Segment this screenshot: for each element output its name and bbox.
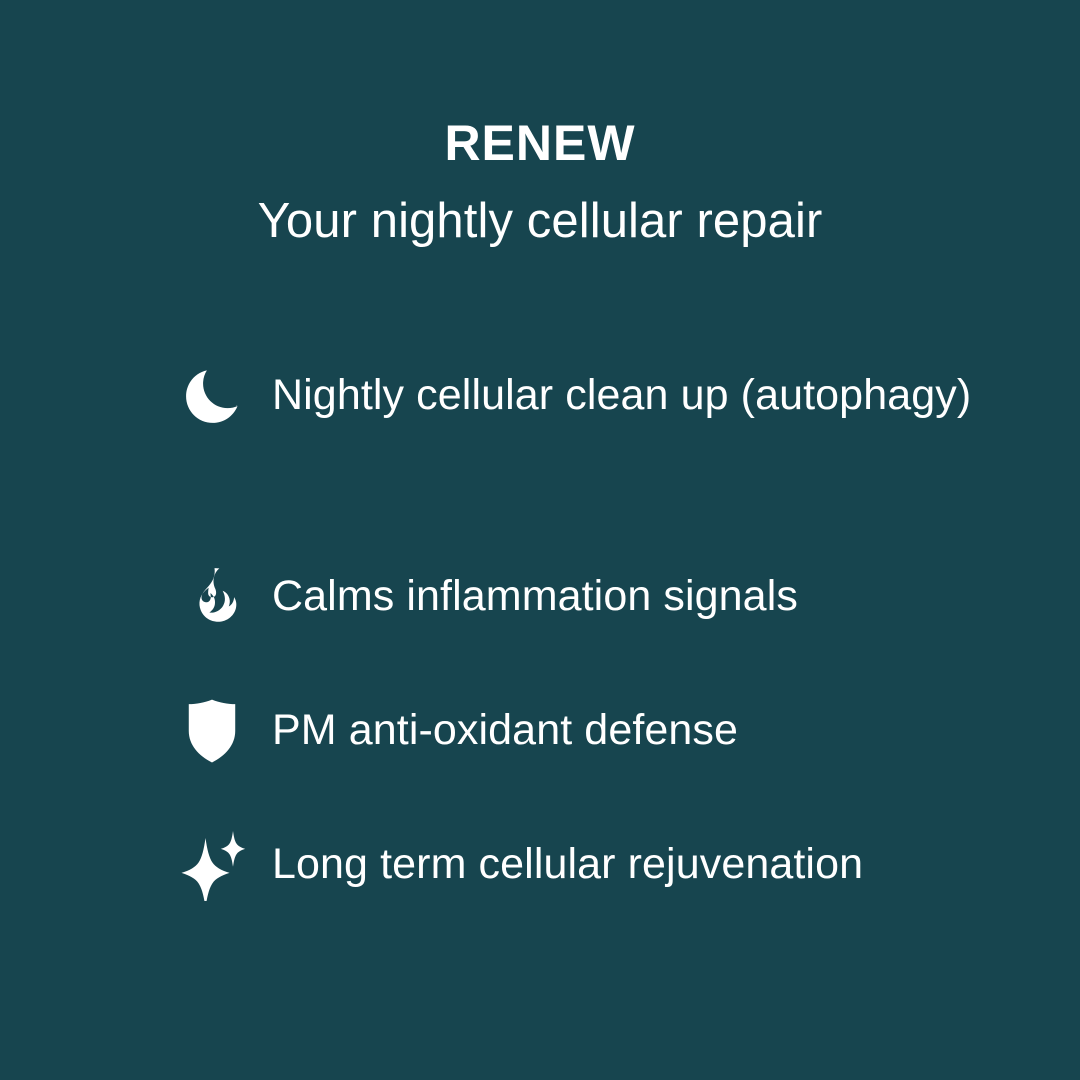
list-item-label: Long term cellular rejuvenation [246, 831, 978, 898]
moon-icon [178, 362, 246, 430]
list-item: PM anti-oxidant defense [178, 697, 978, 765]
flame-icon [178, 563, 246, 631]
list-item-label: Calms inflammation signals [246, 563, 978, 630]
list-item: Nightly cellular clean up (autophagy) [178, 362, 978, 430]
list-item: Calms inflammation signals [178, 563, 978, 631]
renew-benefits-card: RENEW Your nightly cellular repair Night… [0, 0, 1080, 1080]
benefit-list: Nightly cellular clean up (autophagy) Ca… [178, 362, 978, 899]
sparkle-icon [178, 831, 246, 899]
list-item-label: PM anti-oxidant defense [246, 697, 978, 764]
list-item: Long term cellular rejuvenation [178, 831, 978, 899]
list-item-label: Nightly cellular clean up (autophagy) [246, 362, 978, 429]
page-title: RENEW [0, 118, 1080, 168]
page-subtitle: Your nightly cellular repair [0, 168, 1080, 246]
shield-icon [178, 697, 246, 765]
card-header: RENEW Your nightly cellular repair [0, 0, 1080, 246]
